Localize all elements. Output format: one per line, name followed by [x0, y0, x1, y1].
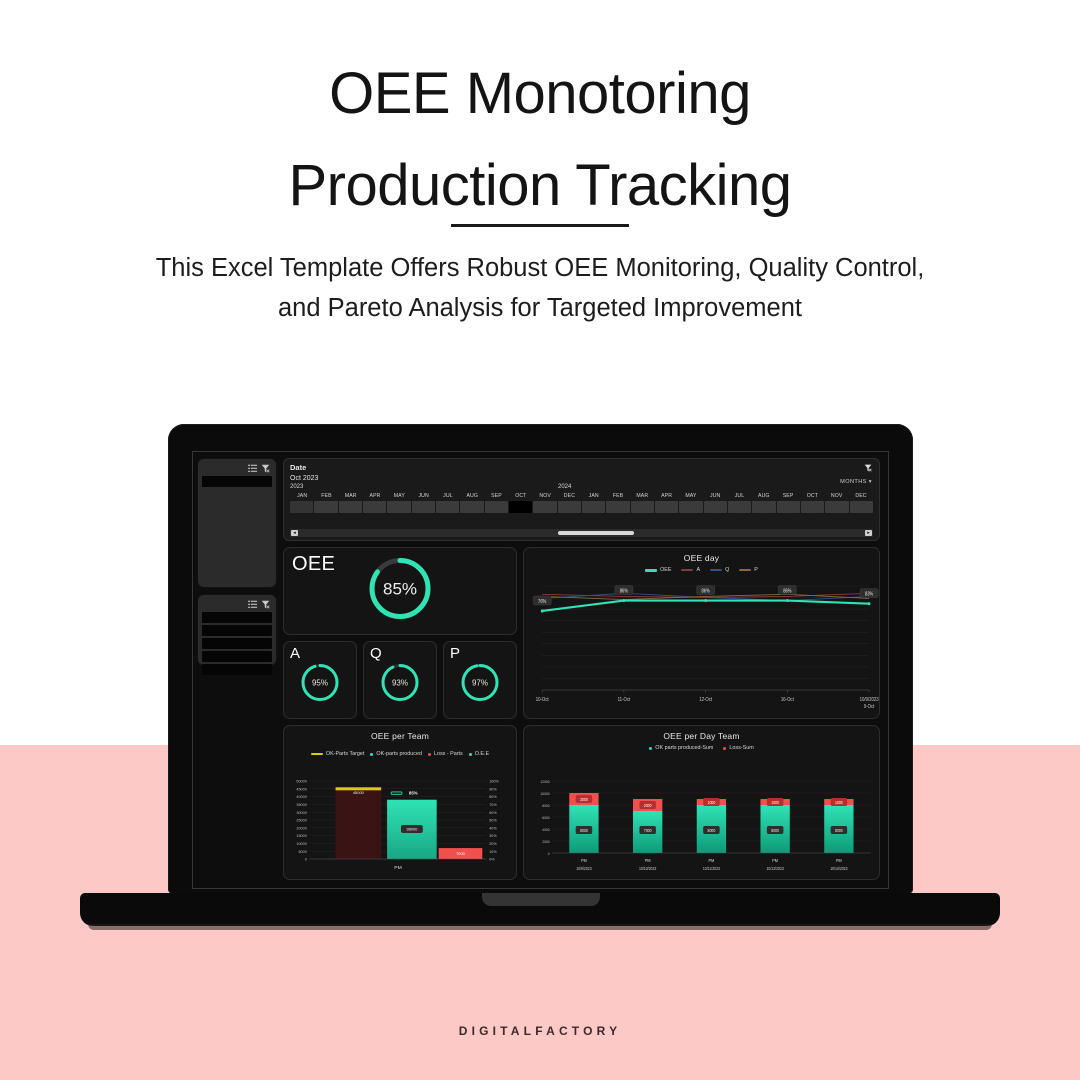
svg-text:PM: PM — [709, 858, 715, 863]
svg-text:5000: 5000 — [298, 850, 306, 854]
svg-text:50000: 50000 — [296, 780, 306, 784]
svg-text:2000: 2000 — [542, 840, 549, 844]
legend-swatch-target — [311, 753, 323, 755]
svg-text:86%: 86% — [701, 588, 709, 593]
legend-swatch-loss-sum — [723, 747, 726, 750]
legend-item-loss[interactable]: Loss - Parts — [428, 751, 463, 757]
svg-text:0: 0 — [305, 858, 307, 862]
svg-text:8000: 8000 — [771, 829, 779, 833]
kpi-value-p: 97% — [472, 678, 488, 687]
kpi-card-a: A 95% — [283, 641, 357, 719]
chart-oee-day-legend: OEE A Q P — [524, 567, 879, 573]
legend-swatch-ok-sum — [649, 747, 652, 750]
month-cell[interactable] — [460, 501, 483, 513]
svg-text:6000: 6000 — [542, 816, 549, 820]
month-label[interactable]: SEP — [776, 493, 800, 499]
month-label[interactable]: JAN — [582, 493, 606, 499]
laptop-mockup: Date Oct 2023 MONTHS ▾ 2023 2024 — [168, 424, 913, 894]
kpi-card-q: Q 93% — [363, 641, 437, 719]
svg-text:1000: 1000 — [771, 801, 779, 805]
clear-filter-icon[interactable] — [261, 464, 270, 473]
month-label[interactable]: APR — [654, 493, 678, 499]
month-label[interactable]: MAY — [387, 493, 411, 499]
svg-text:8000: 8000 — [580, 829, 588, 833]
svg-text:8000: 8000 — [835, 829, 843, 833]
slicer-panel-2-header — [202, 599, 272, 610]
svg-text:10000: 10000 — [296, 842, 306, 846]
laptop-notch — [482, 893, 600, 906]
svg-text:16-Oct: 16-Oct — [781, 697, 794, 704]
legend-swatch-p — [739, 569, 751, 571]
legend-item-target[interactable]: OK-Parts Target — [311, 751, 365, 757]
svg-text:25000: 25000 — [296, 819, 306, 823]
slicer-rail — [193, 452, 281, 888]
kpi-column: OEE 85% A — [283, 547, 517, 719]
svg-text:12000: 12000 — [540, 780, 549, 784]
svg-text:10/9/2023: 10/9/2023 — [860, 697, 879, 704]
svg-text:20000: 20000 — [296, 826, 306, 830]
month-cell[interactable] — [679, 501, 702, 513]
month-cell[interactable] — [582, 501, 605, 513]
svg-text:83%: 83% — [865, 591, 873, 596]
month-label[interactable]: AUG — [752, 493, 776, 499]
svg-text:90%: 90% — [489, 787, 497, 791]
title-divider — [451, 224, 629, 227]
legend-item-a[interactable]: A — [681, 567, 700, 573]
legend-label-loss: Loss - Parts — [434, 751, 463, 757]
svg-text:100%: 100% — [489, 780, 499, 784]
date-slicer-title: Date — [290, 463, 873, 472]
slicer-item[interactable] — [202, 638, 272, 649]
slicer-item[interactable] — [202, 625, 272, 636]
svg-text:10000: 10000 — [540, 792, 549, 796]
legend-item-oee[interactable]: OEE — [645, 567, 671, 573]
clear-filter-icon[interactable] — [261, 600, 270, 609]
legend-item-oee[interactable]: O.E.E — [469, 751, 489, 757]
svg-text:50%: 50% — [489, 819, 497, 823]
svg-text:10/10/2023: 10/10/2023 — [639, 867, 656, 871]
month-label[interactable]: JUN — [411, 493, 435, 499]
slicer-item[interactable] — [202, 612, 272, 623]
month-cell[interactable] — [314, 501, 337, 513]
month-cell[interactable] — [777, 501, 800, 513]
slicer-year-2023: 2023 — [290, 484, 303, 490]
chart-oee-per-team: OEE per Team OK-Parts Target OK-parts pr… — [283, 725, 517, 880]
page-title-line1: OEE Monotoring — [0, 48, 1080, 140]
month-cell[interactable] — [728, 501, 751, 513]
month-cell[interactable] — [387, 501, 410, 513]
month-cell[interactable] — [290, 501, 313, 513]
svg-text:0: 0 — [548, 852, 550, 856]
legend-label-loss-sum: Loss-Sum — [729, 745, 753, 751]
month-label[interactable]: NOV — [533, 493, 557, 499]
svg-text:40000: 40000 — [296, 795, 306, 799]
slicer-year-2024: 2024 — [558, 484, 571, 490]
svg-text:2000: 2000 — [580, 798, 588, 802]
slicer-year-row: 2023 2024 — [290, 484, 873, 493]
month-cell[interactable] — [825, 501, 848, 513]
slicer-item[interactable] — [202, 651, 272, 662]
svg-text:10/11/2023: 10/11/2023 — [703, 867, 720, 871]
svg-text:9-Oct: 9-Oct — [864, 704, 875, 711]
svg-text:85%: 85% — [409, 791, 418, 796]
scroll-left-button[interactable]: ◂ — [291, 530, 298, 536]
kpi-gauge-p: 97% — [457, 659, 503, 710]
slicer-month-labels: JAN FEB MAR APR MAY JUN JUL AUG SEP OCT … — [290, 493, 873, 499]
kpi-card-p: P 97% — [443, 641, 517, 719]
chart-oee-per-day-team-legend: OK parts produced-Sum Loss-Sum — [524, 745, 879, 751]
svg-text:10-Oct: 10-Oct — [536, 697, 549, 704]
chart-oee-per-team-plot: 50000100%4500090%4000080%3500070%3000060… — [284, 775, 516, 879]
month-label[interactable]: NOV — [825, 493, 849, 499]
month-label[interactable]: FEB — [314, 493, 338, 499]
legend-item-loss-sum[interactable]: Loss-Sum — [723, 745, 753, 751]
brand-footer: DIGITALFACTORY — [0, 1024, 1080, 1038]
kpi-and-line-row: OEE 85% A — [283, 547, 880, 719]
laptop-screen: Date Oct 2023 MONTHS ▾ 2023 2024 — [192, 451, 889, 889]
slicer-panel-1-header — [202, 463, 272, 474]
svg-text:38000: 38000 — [406, 827, 418, 832]
legend-label-target: OK-Parts Target — [326, 751, 365, 757]
slicer-scrollbar[interactable]: ◂ ▸ — [290, 529, 873, 537]
legend-label-p: P — [754, 567, 758, 573]
svg-text:60%: 60% — [489, 811, 497, 815]
chart-oee-day-plot: 76%86%86%86%83%10-Oct11-Oct12-Oct16-Oct1… — [524, 578, 879, 718]
month-cell[interactable] — [485, 501, 508, 513]
month-cell[interactable] — [655, 501, 678, 513]
month-cell[interactable] — [704, 501, 727, 513]
month-cell[interactable] — [606, 501, 629, 513]
page-title: OEE Monotoring Production Tracking — [0, 48, 1080, 231]
svg-text:76%: 76% — [538, 599, 546, 604]
slicer-panel-2[interactable] — [197, 594, 277, 666]
chart-oee-per-day-team: OEE per Day Team OK parts produced-Sum L… — [523, 725, 880, 880]
oee-gauge-card: OEE 85% — [283, 547, 517, 635]
month-label[interactable]: AUG — [460, 493, 484, 499]
bar-charts-row: OEE per Team OK-Parts Target OK-parts pr… — [283, 725, 880, 880]
month-label[interactable]: JUL — [727, 493, 751, 499]
month-label[interactable]: DEC — [557, 493, 581, 499]
svg-text:10/16/2023: 10/16/2023 — [830, 867, 847, 871]
legend-swatch-oee — [645, 569, 657, 572]
kpi-gauge-q: 93% — [377, 659, 423, 710]
legend-item-p[interactable]: P — [739, 567, 758, 573]
svg-text:30%: 30% — [489, 834, 497, 838]
chart-oee-per-team-title: OEE per Team — [284, 726, 516, 741]
kpi-gauge-a: 95% — [297, 659, 343, 710]
legend-label-q: Q — [725, 567, 729, 573]
svg-text:1000: 1000 — [708, 801, 716, 805]
svg-text:80%: 80% — [489, 795, 497, 799]
month-label[interactable]: MAY — [679, 493, 703, 499]
svg-text:70%: 70% — [489, 803, 497, 807]
page-subtitle: This Excel Template Offers Robust OEE Mo… — [150, 248, 930, 329]
legend-label-oee: OEE — [660, 567, 671, 573]
slicer-month-bars[interactable] — [290, 501, 873, 513]
chart-oee-per-day-team-title: OEE per Day Team — [524, 726, 879, 741]
dashboard: Date Oct 2023 MONTHS ▾ 2023 2024 — [193, 452, 888, 888]
month-label[interactable]: JUN — [703, 493, 727, 499]
scroll-right-button[interactable]: ▸ — [865, 530, 872, 536]
legend-item-ok-sum[interactable]: OK parts produced-Sum — [649, 745, 713, 751]
svg-text:8000: 8000 — [708, 829, 716, 833]
svg-text:PM: PM — [581, 858, 587, 863]
date-slicer[interactable]: Date Oct 2023 MONTHS ▾ 2023 2024 — [283, 458, 880, 541]
month-cell[interactable] — [533, 501, 556, 513]
svg-text:10%: 10% — [489, 850, 497, 854]
svg-text:11-Oct: 11-Oct — [618, 697, 631, 704]
month-cell[interactable] — [412, 501, 435, 513]
svg-text:1000: 1000 — [835, 801, 843, 805]
list-icon[interactable] — [248, 464, 257, 473]
month-label[interactable]: JAN — [290, 493, 314, 499]
legend-swatch-q — [710, 569, 722, 571]
svg-text:10/12/2023: 10/12/2023 — [766, 867, 783, 871]
month-label[interactable]: APR — [363, 493, 387, 499]
month-cell[interactable] — [631, 501, 654, 513]
svg-text:PM: PM — [394, 865, 401, 871]
oee-gauge-value: 85% — [383, 580, 417, 599]
legend-label-ok-sum: OK parts produced-Sum — [655, 745, 713, 751]
month-label[interactable]: FEB — [606, 493, 630, 499]
svg-text:30000: 30000 — [296, 811, 306, 815]
month-cell[interactable] — [339, 501, 362, 513]
svg-text:0%: 0% — [489, 858, 495, 862]
slicer-item[interactable] — [202, 476, 272, 487]
svg-text:35000: 35000 — [296, 803, 306, 807]
svg-text:20%: 20% — [489, 842, 497, 846]
legend-label-a: A — [696, 567, 700, 573]
clear-filter-icon[interactable] — [864, 464, 872, 472]
svg-text:PM: PM — [645, 858, 651, 863]
month-label[interactable]: JUL — [436, 493, 460, 499]
month-label[interactable]: MAR — [339, 493, 363, 499]
svg-text:8000: 8000 — [542, 804, 549, 808]
slicer-item[interactable] — [202, 664, 272, 675]
month-cell[interactable] — [850, 501, 873, 513]
chart-oee-day: OEE day OEE A — [523, 547, 880, 719]
legend-item-produced[interactable]: OK-parts produced — [370, 751, 422, 757]
chart-oee-day-title: OEE day — [524, 548, 879, 563]
month-cell[interactable] — [752, 501, 775, 513]
oee-label: OEE — [292, 553, 335, 576]
chart-oee-per-team-legend: OK-Parts Target OK-parts produced Loss -… — [284, 751, 516, 757]
month-cell[interactable] — [363, 501, 386, 513]
legend-swatch-a — [681, 569, 693, 571]
svg-text:PM: PM — [836, 858, 842, 863]
month-label[interactable]: MAR — [630, 493, 654, 499]
legend-swatch-produced — [370, 753, 373, 756]
kpi-value-a: 95% — [312, 678, 328, 687]
page-title-line2: Production Tracking — [0, 140, 1080, 232]
month-label[interactable]: DEC — [849, 493, 873, 499]
svg-text:45000: 45000 — [353, 790, 365, 795]
legend-label-produced: OK-parts produced — [376, 751, 422, 757]
chart-oee-per-day-team-plot: 12000100008000600040002000080002000PM10/… — [524, 775, 879, 879]
svg-text:86%: 86% — [620, 588, 628, 593]
legend-swatch-oee — [469, 753, 472, 756]
svg-text:4000: 4000 — [542, 828, 549, 832]
svg-text:40%: 40% — [489, 826, 497, 830]
slicer-panel-1[interactable] — [197, 458, 277, 588]
month-label[interactable]: OCT — [800, 493, 824, 499]
month-cell[interactable] — [558, 501, 581, 513]
kpi-row: A 95% Q — [283, 641, 517, 719]
oee-gauge: 85% — [364, 553, 436, 630]
kpi-value-q: 93% — [392, 678, 408, 687]
month-label[interactable]: SEP — [484, 493, 508, 499]
svg-text:12-Oct: 12-Oct — [699, 697, 712, 704]
svg-text:45000: 45000 — [296, 787, 306, 791]
month-cell-selected[interactable] — [509, 501, 532, 513]
svg-text:2000: 2000 — [644, 804, 652, 808]
date-slicer-selection: Oct 2023 — [290, 475, 873, 482]
svg-text:86%: 86% — [783, 588, 791, 593]
svg-text:10/9/2023: 10/9/2023 — [576, 867, 591, 871]
svg-text:7000: 7000 — [456, 851, 466, 856]
month-label-selected[interactable]: OCT — [509, 493, 533, 499]
list-icon[interactable] — [248, 600, 257, 609]
dashboard-content: Date Oct 2023 MONTHS ▾ 2023 2024 — [281, 452, 888, 888]
month-cell[interactable] — [436, 501, 459, 513]
legend-label-oee: O.E.E — [475, 751, 489, 757]
scrollbar-thumb[interactable] — [558, 531, 634, 535]
month-cell[interactable] — [801, 501, 824, 513]
svg-text:15000: 15000 — [296, 834, 306, 838]
svg-text:PM: PM — [772, 858, 778, 863]
svg-text:7000: 7000 — [644, 829, 652, 833]
legend-item-q[interactable]: Q — [710, 567, 729, 573]
legend-swatch-loss — [428, 753, 431, 756]
